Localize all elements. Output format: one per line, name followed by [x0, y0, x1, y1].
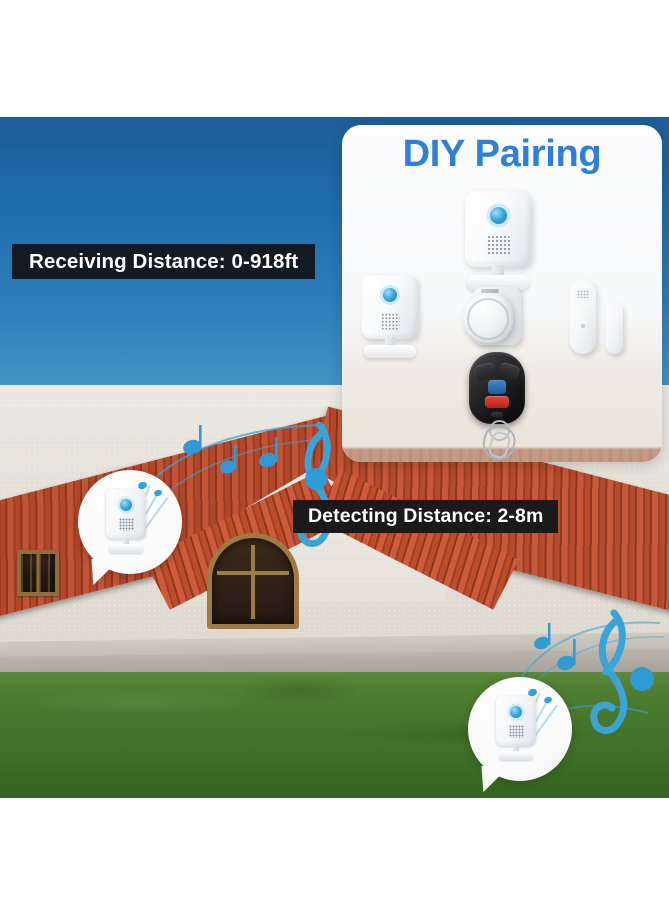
- window-upper-left: [17, 550, 59, 596]
- chime-stand-base: [499, 751, 533, 760]
- chime-speaker-grille: [509, 725, 524, 738]
- pir-indicator-slot: [481, 289, 499, 293]
- receiving-distance-text: Receiving Distance: 0-918ft: [29, 250, 298, 274]
- roof-chime-callout: [78, 470, 182, 574]
- arched-window: [207, 533, 299, 629]
- panel-title: DIY Pairing: [342, 133, 662, 176]
- product-wireless-chime-top: [465, 191, 531, 291]
- diy-pairing-panel: DIY Pairing: [342, 125, 662, 462]
- product-pir-motion-sensor: [463, 285, 527, 347]
- chime-body: [106, 489, 146, 539]
- fob-sos-button: [485, 396, 509, 408]
- chime-stand-base: [109, 544, 143, 553]
- callout-chime-device: [496, 696, 536, 762]
- product-image-canvas: DIY Pairing: [0, 0, 669, 913]
- chime-speaker-grille: [487, 235, 510, 256]
- chime-stand-base: [364, 345, 416, 358]
- chime-body: [496, 696, 536, 746]
- callout-chime-device: [106, 489, 146, 555]
- product-contact-sensor-main: [570, 280, 596, 354]
- chime-led-button: [510, 706, 522, 718]
- chime-led-button: [120, 499, 132, 511]
- product-wireless-chime-left: [362, 275, 418, 361]
- detecting-distance-banner: Detecting Distance: 2-8m: [293, 500, 558, 533]
- fob-led-lens: [491, 412, 503, 418]
- chime-led-button: [383, 288, 397, 302]
- music-note-icon: [543, 696, 552, 704]
- chime-speaker-grille: [119, 518, 134, 531]
- receiving-distance-banner: Receiving Distance: 0-918ft: [12, 244, 315, 279]
- window-chime-callout: [468, 677, 572, 781]
- detecting-distance-text: Detecting Distance: 2-8m: [308, 505, 543, 528]
- product-contact-sensor-magnet: [606, 302, 623, 354]
- pir-lens-ring: [467, 298, 509, 340]
- chime-led-button: [490, 207, 507, 224]
- product-key-fob-remote: [469, 352, 525, 444]
- music-note-icon: [153, 489, 162, 497]
- chime-speaker-grille: [381, 313, 400, 330]
- fob-home-button: [488, 380, 506, 394]
